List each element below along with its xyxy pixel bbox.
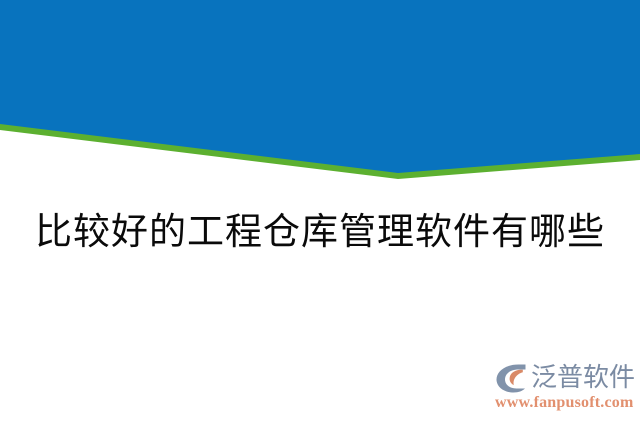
fanpu-swoosh-logo-icon-svg bbox=[494, 362, 528, 395]
chevron-banner bbox=[0, 0, 640, 185]
brand-watermark: 泛普软件 www.fanpusoft.com bbox=[494, 360, 634, 418]
page-title: 比较好的工程仓库管理软件有哪些 bbox=[0, 206, 640, 260]
fanpu-swoosh-logo-icon bbox=[494, 362, 528, 395]
banner-blue-fill bbox=[0, 0, 640, 173]
brand-url-label: www.fanpusoft.com bbox=[495, 393, 634, 413]
brand-logo-row: 泛普软件 bbox=[494, 360, 635, 396]
slide-canvas: 比较好的工程仓库管理软件有哪些 泛普软件 www.fanpusoft.com bbox=[0, 0, 640, 427]
chevron-banner-shape bbox=[0, 0, 640, 185]
brand-name-label: 泛普软件 bbox=[531, 363, 635, 393]
